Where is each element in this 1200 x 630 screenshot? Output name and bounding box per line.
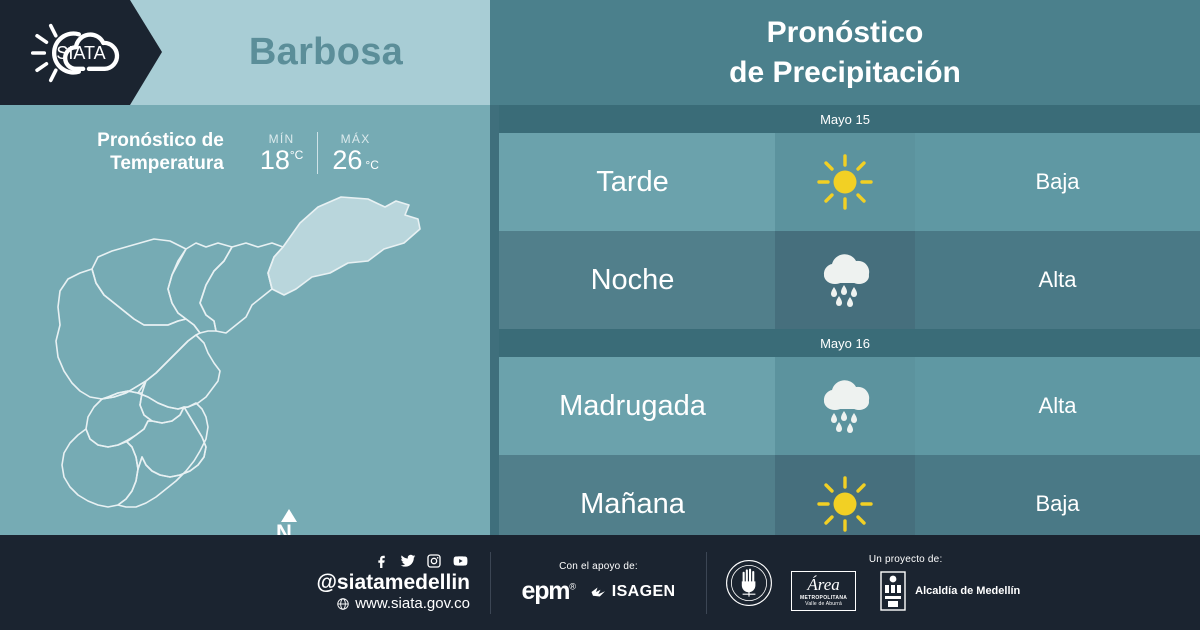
youtube-icon[interactable] (451, 553, 470, 569)
temperature-max: MÁX 26°C (318, 132, 393, 174)
isagen-logo-text: ISAGEN (612, 583, 676, 601)
map-svg (0, 185, 490, 535)
precipitation-level: Alta (915, 231, 1200, 329)
left-panel: SIATA Barbosa Pronóstico de Temperatura … (0, 0, 490, 535)
map-region-3[interactable] (92, 239, 186, 325)
footer: @siatamedellin www.siata.gov.co Con el a… (0, 535, 1200, 630)
website-row[interactable]: www.siata.gov.co (336, 595, 470, 612)
project-inner: Un proyecto de: Área METROPOLITANA Valle… (791, 554, 1020, 612)
map-region-9[interactable] (118, 403, 208, 507)
project-logos: Área METROPOLITANA Valle de Aburrá (791, 570, 1020, 612)
temperature-min: MÍN 18°C (246, 132, 319, 174)
isagen-logo: ISAGEN (589, 583, 676, 601)
infographic-canvas: SIATA Barbosa Pronóstico de Temperatura … (0, 0, 1200, 630)
siata-logo-wedge: SIATA (0, 0, 162, 105)
sun-icon (775, 133, 915, 231)
social-icons (376, 553, 470, 569)
forecast-row[interactable]: Madrugada Alta (490, 357, 1200, 455)
precipitation-title-line1: Pronóstico (767, 13, 924, 53)
facebook-icon[interactable] (376, 553, 390, 569)
alcaldia-label: Alcaldía de Medellín (915, 585, 1020, 597)
rain-cloud-icon (775, 357, 915, 455)
temperature-values: MÍN 18°C MÁX 26°C (246, 132, 393, 174)
website-url: www.siata.gov.co (355, 595, 470, 612)
max-value: 26 (332, 145, 362, 175)
forecast-row[interactable]: Tarde Baja (490, 133, 1200, 231)
area-metropolitana-logo: Área METROPOLITANA Valle de Aburrá (791, 571, 856, 611)
map-region-2[interactable] (168, 243, 232, 333)
epm-logo-sup: ® (569, 582, 574, 592)
map-region-5[interactable] (102, 335, 220, 409)
forecast-period: Noche (490, 231, 775, 329)
temperature-title-line2: Temperatura (97, 153, 224, 176)
right-panel: Pronóstico de Precipitación Mayo 15 Tard… (490, 0, 1200, 535)
epm-logo-text: epm (522, 577, 570, 605)
universidad-nacional-seal (725, 559, 773, 607)
map-region-barbosa[interactable] (268, 197, 420, 295)
map-region-10[interactable] (126, 407, 206, 477)
forecast-period: Tarde (490, 133, 775, 231)
project-block: Un proyecto de: Área METROPOLITANA Valle… (707, 535, 1200, 630)
isagen-mark-icon (589, 583, 609, 601)
date-bar-mayo-15: Mayo 15 (490, 105, 1200, 133)
min-unit: °C (290, 148, 303, 162)
alcaldia-crest-icon (878, 570, 908, 612)
globe-icon (336, 597, 350, 611)
precipitation-title: Pronóstico de Precipitación (490, 0, 1200, 105)
min-value-wrap: 18°C (260, 147, 304, 174)
temperature-forecast: Pronóstico de Temperatura MÍN 18°C MÁX 2… (0, 118, 490, 188)
max-value-wrap: 26°C (332, 147, 379, 174)
epm-logo: epm® (522, 579, 575, 604)
map-region-4[interactable] (56, 269, 200, 399)
area-logo-line1: METROPOLITANA (800, 595, 847, 601)
support-logos: epm® ISAGEN (522, 579, 676, 604)
max-label: MÁX (332, 132, 379, 146)
project-caption: Un proyecto de: (869, 554, 943, 565)
forecast-period: Madrugada (490, 357, 775, 455)
siata-logo-text: SIATA (56, 42, 105, 62)
forecast-row[interactable]: Noche Alta (490, 231, 1200, 329)
temperature-title-line1: Pronóstico de (97, 130, 224, 153)
panel-edge-strip (490, 105, 499, 535)
max-unit: °C (365, 158, 378, 172)
area-logo-line2: Valle de Aburrá (800, 601, 847, 607)
map-region-7[interactable] (86, 391, 152, 447)
min-value: 18 (260, 145, 290, 175)
twitter-icon[interactable] (399, 553, 417, 569)
area-logo-script: Área (800, 576, 847, 593)
left-header: SIATA Barbosa (0, 0, 490, 105)
instagram-icon[interactable] (426, 553, 442, 569)
precipitation-level: Alta (915, 357, 1200, 455)
min-label: MÍN (260, 132, 304, 146)
temperature-title: Pronóstico de Temperatura (97, 130, 224, 176)
social-handle[interactable]: @siatamedellin (316, 571, 470, 595)
social-block: @siatamedellin www.siata.gov.co (0, 535, 490, 630)
area-logo-box: Área METROPOLITANA Valle de Aburrá (791, 571, 856, 611)
city-title: Barbosa (162, 0, 490, 105)
precipitation-level: Baja (915, 133, 1200, 231)
date-bar-mayo-16: Mayo 16 (490, 329, 1200, 357)
support-block: Con el apoyo de: epm® ISAGEN (491, 535, 706, 630)
alcaldia-logo: Alcaldía de Medellín (878, 570, 1020, 612)
aburra-valley-map: N (0, 185, 490, 535)
precipitation-title-line2: de Precipitación (729, 53, 961, 93)
support-caption: Con el apoyo de: (559, 561, 638, 572)
sun-cloud-icon: SIATA (27, 17, 135, 89)
rain-cloud-icon (775, 231, 915, 329)
